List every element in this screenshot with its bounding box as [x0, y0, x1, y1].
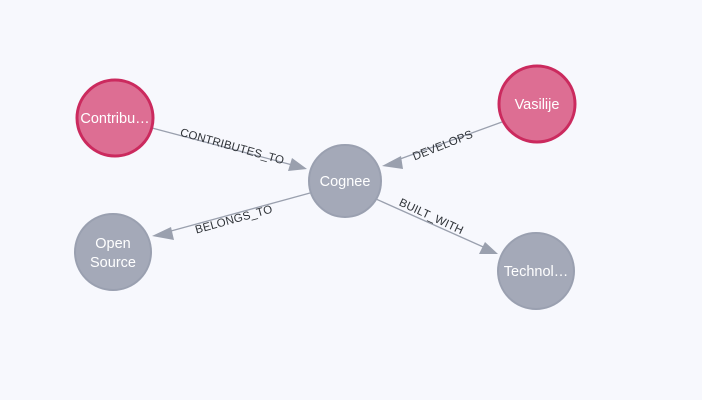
- edge-arrowhead-belongs-to: [152, 227, 174, 240]
- node-vasilije[interactable]: Vasilije: [499, 66, 575, 142]
- node-label-contributor: Contribu…: [80, 111, 149, 127]
- edge-develops[interactable]: DEVELOPS: [382, 122, 502, 169]
- edge-arrowhead-built-with: [479, 242, 498, 254]
- edge-label-belongs-to: BELONGS_TO: [194, 204, 274, 237]
- node-circle-open-source[interactable]: [75, 214, 151, 290]
- nodes-layer: Contribu… Vasilije Cognee Open Source Te…: [75, 66, 575, 309]
- node-technology[interactable]: Technol…: [498, 233, 574, 309]
- node-label-open-source-line1: Open: [95, 236, 130, 252]
- node-open-source[interactable]: Open Source: [75, 214, 151, 290]
- node-label-cognee: Cognee: [320, 174, 371, 190]
- graph-canvas[interactable]: CONTRIBUTES_TO DEVELOPS BELONGS_TO BUILT…: [0, 0, 702, 400]
- node-label-open-source-line2: Source: [90, 255, 136, 271]
- edge-arrowhead-contributes-to: [288, 158, 307, 171]
- node-label-technology: Technol…: [504, 264, 568, 280]
- node-contributor[interactable]: Contribu…: [77, 80, 153, 156]
- edge-arrowhead-develops: [382, 156, 403, 169]
- edge-label-contributes-to: CONTRIBUTES_TO: [179, 127, 286, 167]
- edge-contributes-to[interactable]: CONTRIBUTES_TO: [152, 127, 307, 171]
- node-cognee[interactable]: Cognee: [309, 145, 381, 217]
- edge-label-develops: DEVELOPS: [411, 129, 475, 164]
- node-label-vasilije: Vasilije: [515, 97, 560, 113]
- edge-belongs-to[interactable]: BELONGS_TO: [152, 193, 310, 240]
- edge-label-built-with: BUILT_WITH: [397, 197, 465, 237]
- edge-built-with[interactable]: BUILT_WITH: [376, 197, 498, 254]
- graph-visualization[interactable]: CONTRIBUTES_TO DEVELOPS BELONGS_TO BUILT…: [0, 0, 702, 400]
